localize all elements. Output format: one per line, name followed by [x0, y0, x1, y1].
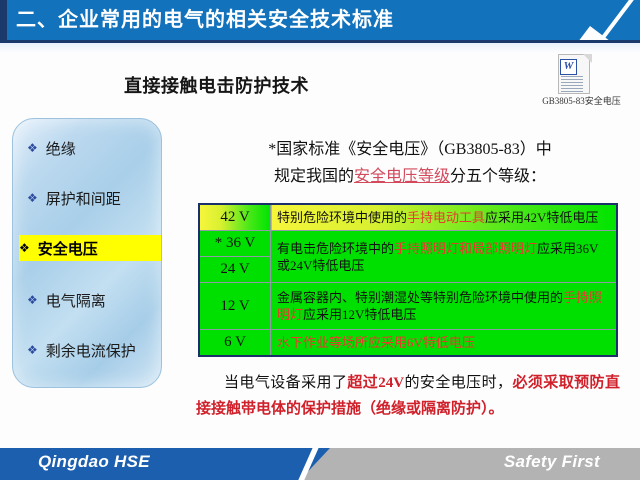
note-red-1: 超过24V: [347, 375, 404, 391]
note-part-2: 的安全电压时，: [404, 375, 512, 391]
table-row: 12 V 金属容器内、特别潮湿处等特别危险环境中使用的手持照明灯应采用12V特低…: [199, 283, 617, 329]
sidebar-item-label: 屏护和间距: [46, 188, 121, 209]
intro-paragraph: *国家标准《安全电压》（GB3805-83）中 规定我国的安全电压等级分五个等级…: [200, 136, 620, 190]
description-cell: 金属容器内、特别潮湿处等特别危险环境中使用的手持照明灯应采用12V特低电压: [271, 283, 618, 329]
table-row: * 36 V 有电击危险环境中的手持照明灯和局部照明灯应采用36V或24V特低电…: [199, 231, 617, 257]
diamond-bullet-icon: ❖: [27, 294, 38, 306]
description-cell: 水下作业等场所应采用6V特低电压: [271, 329, 618, 356]
page-fold-corner-icon: [583, 54, 592, 63]
intro-line2-post: 分五个等级：: [450, 168, 546, 185]
desc-pre: 有电击危险环境中的: [277, 241, 394, 256]
desc-pre: 特别危险环境中使用的: [277, 210, 407, 225]
word-document-icon[interactable]: W: [558, 54, 592, 94]
footer-brand-label: Qingdao HSE: [38, 452, 150, 472]
table-row: 42 V 特别危险环境中使用的手持电动工具应采用42V特低电压: [199, 204, 617, 231]
word-w-glyph: W: [560, 59, 577, 75]
sidebar-item-insulation[interactable]: ❖ 绝缘: [27, 135, 153, 161]
header-sheen: [0, 43, 640, 53]
desc-post: 应采用12V特低电压: [303, 307, 416, 322]
table-row: 6 V 水下作业等场所应采用6V特低电压: [199, 329, 617, 356]
intro-line-2: 规定我国的安全电压等级分五个等级：: [200, 163, 620, 190]
diamond-bullet-icon: ❖: [19, 242, 30, 254]
page-title: 二、企业常用的电气的相关安全技术标准: [16, 5, 394, 35]
desc-red: 手持照明灯和局部照明灯: [394, 241, 537, 256]
desc-red: 手持电动工具: [407, 210, 485, 225]
desc-post: 应采用42V特低电压: [485, 210, 598, 225]
note-part-1: 当电气设备采用了: [224, 375, 347, 391]
description-cell: 有电击危险环境中的手持照明灯和局部照明灯应采用36V或24V特低电压: [271, 231, 618, 283]
footer-slogan-label: Safety First: [504, 452, 600, 472]
intro-highlight-term: 安全电压等级: [354, 168, 450, 185]
sidebar-item-safety-voltage[interactable]: ❖ 安全电压: [19, 235, 161, 261]
intro-line2-pre: 规定我国的: [274, 168, 354, 185]
voltage-cell: 42 V: [199, 204, 271, 231]
sidebar-item-label: 安全电压: [38, 238, 98, 259]
section-heading: 直接接触电击防护技术: [124, 72, 309, 98]
safety-voltage-table: 42 V 特别危险环境中使用的手持电动工具应采用42V特低电压 * 36 V 有…: [198, 203, 618, 357]
attachment-caption: GB3805-83安全电压: [523, 96, 640, 107]
sidebar-item-residual-current-protection[interactable]: ❖ 剩余电流保护: [27, 337, 153, 363]
diamond-bullet-icon: ❖: [27, 192, 38, 204]
voltage-cell: 6 V: [199, 329, 271, 356]
topic-list-panel: ❖ 绝缘 ❖ 屏护和间距 ❖ 安全电压 ❖ 电气隔离 ❖ 剩余电流保护: [12, 118, 162, 388]
description-cell: 特别危险环境中使用的手持电动工具应采用42V特低电压: [271, 204, 618, 231]
voltage-cell: 12 V: [199, 283, 271, 329]
intro-line-1: *国家标准《安全电压》（GB3805-83）中: [200, 136, 620, 163]
voltage-cell: * 36 V: [199, 231, 271, 257]
sidebar-item-shielding[interactable]: ❖ 屏护和间距: [27, 185, 153, 211]
sidebar-item-label: 电气隔离: [46, 290, 106, 311]
desc-pre: 金属容器内、特别潮湿处等特别危险环境中使用的: [277, 290, 563, 305]
sidebar-item-label: 剩余电流保护: [46, 340, 136, 361]
slide-canvas: 二、企业常用的电气的相关安全技术标准 ❖ 绝缘 ❖ 屏护和间距 ❖ 安全电压 ❖…: [0, 0, 640, 480]
header-left-accent-bar: [0, 0, 7, 40]
slide-header: 二、企业常用的电气的相关安全技术标准: [0, 0, 640, 40]
voltage-cell: 24 V: [199, 257, 271, 283]
slide-footer: Qingdao HSE Safety First: [0, 448, 640, 480]
diamond-bullet-icon: ❖: [27, 344, 38, 356]
document-text-lines-icon: [561, 76, 583, 94]
sidebar-item-label: 绝缘: [46, 138, 76, 159]
bottom-note-paragraph: 当电气设备采用了超过24V的安全电压时，必须采取预防直接接触带电体的保护措施（绝…: [196, 370, 620, 422]
sidebar-item-electrical-isolation[interactable]: ❖ 电气隔离: [27, 287, 153, 313]
diamond-bullet-icon: ❖: [27, 142, 38, 154]
